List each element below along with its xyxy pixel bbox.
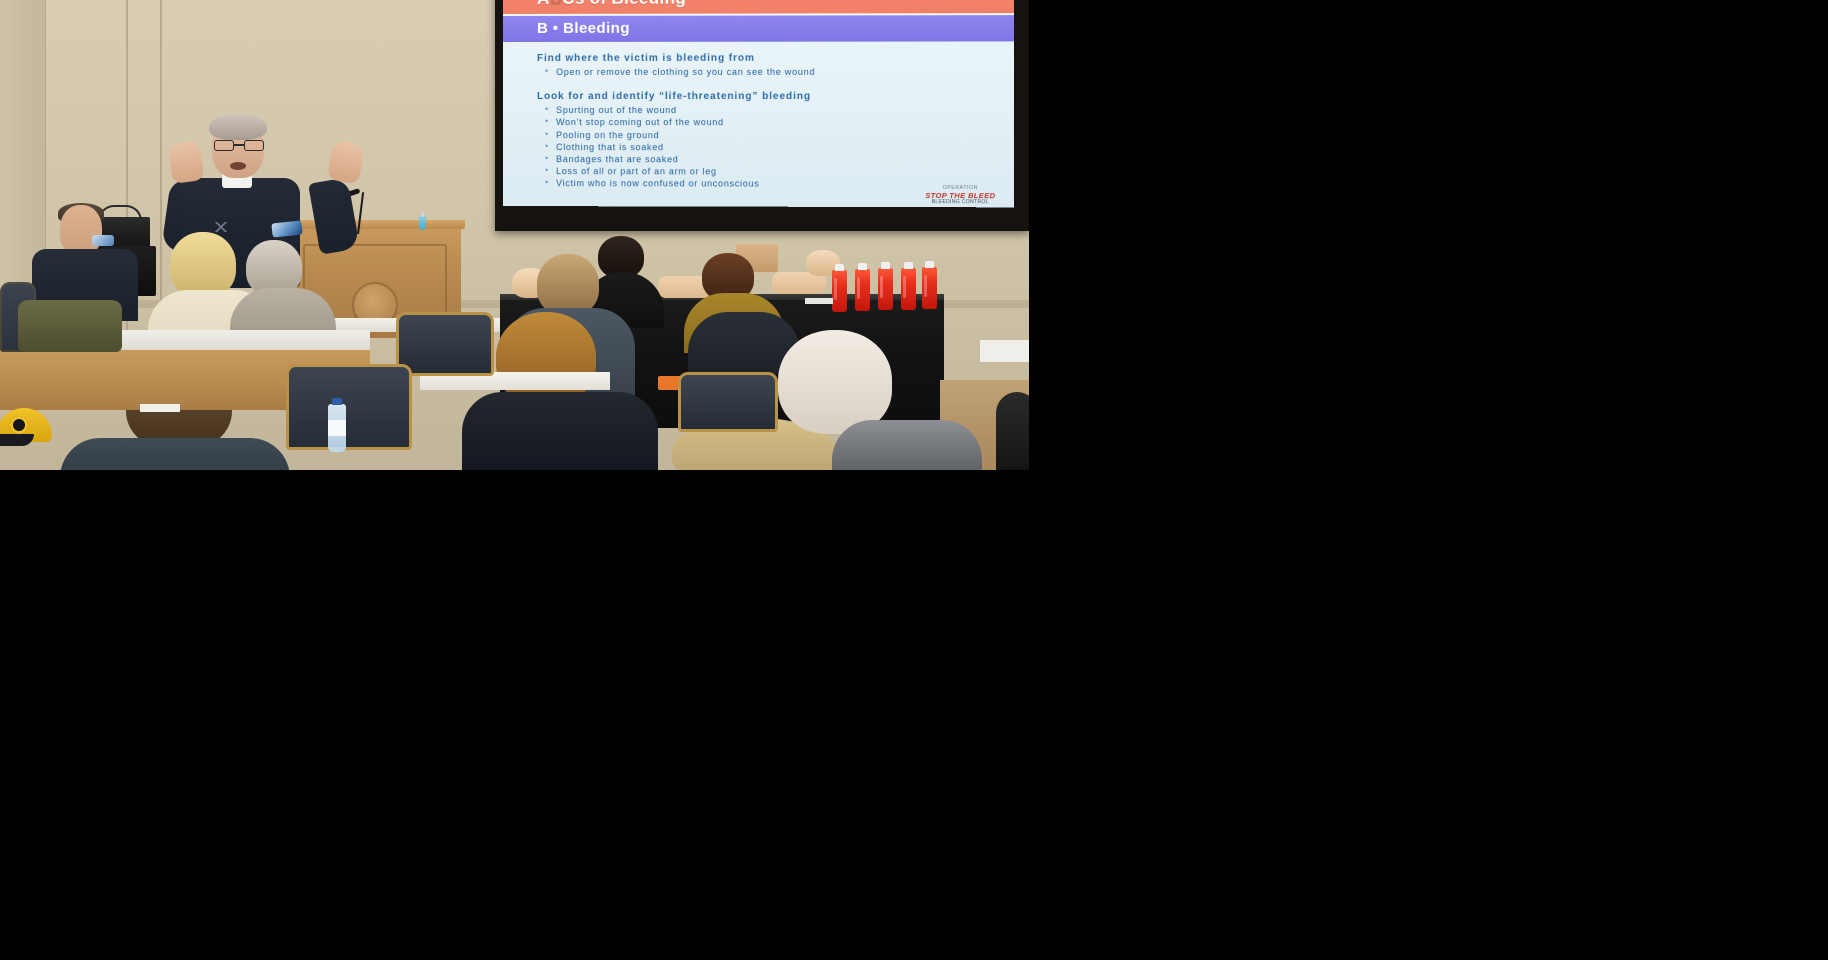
water-bottle: [328, 404, 346, 452]
head: [537, 254, 599, 316]
shoulders: [832, 420, 982, 470]
chair: [396, 312, 494, 376]
backpack: [18, 300, 122, 352]
blood-bottle: [855, 269, 870, 311]
blood-bottle: [901, 268, 916, 310]
list-item: Clothing that is soaked: [545, 141, 979, 154]
list-item: Spurting out of the wound: [545, 104, 979, 116]
logo-line-1: OPERATION: [925, 185, 995, 190]
list-item: Pooling on the ground: [545, 129, 979, 142]
slide-title: ABCs of Bleeding: [537, 0, 979, 8]
list-item: Won’t stop coming out of the wound: [545, 116, 979, 129]
slide-title-suffix: Cs of Bleeding: [562, 0, 686, 8]
head: [778, 330, 892, 434]
presenter-department-patch: [271, 220, 302, 237]
presentation-slide: Primary Principles: ABCs of Bleeding B •…: [503, 0, 1014, 207]
shoulders: [60, 438, 290, 470]
slide-subtitle: B • Bleeding: [537, 19, 979, 37]
seated-officer-patch: [92, 235, 114, 246]
presenter-left-hand: [167, 140, 204, 184]
photograph: Primary Principles: ABCs of Bleeding B •…: [0, 0, 1029, 470]
presenter-glasses: [214, 140, 264, 151]
shoulders: [462, 392, 658, 470]
paper-on-table: [805, 298, 833, 304]
seated-officer-head: [60, 205, 102, 255]
list-item: Open or remove the clothing so you can s…: [545, 66, 979, 78]
slide-spacer: [537, 78, 979, 91]
projection-screen: Primary Principles: ABCs of Bleeding B •…: [503, 0, 1014, 207]
slide-title-dim-letter: B: [550, 0, 563, 8]
table-right: [980, 340, 1029, 362]
slide-title-bar: Primary Principles: ABCs of Bleeding: [503, 0, 1014, 14]
bottle-cap: [332, 398, 342, 405]
letterbox-right: [1029, 0, 1828, 960]
slide-body: Find where the victim is bleeding from O…: [503, 41, 1014, 207]
logo-line-2: STOP THE BLEED: [925, 191, 995, 199]
presenter-brand-logo: [214, 222, 228, 232]
head: [170, 232, 236, 298]
hand-sanitizer-bottle: [419, 216, 426, 230]
projection-screen-frame: Primary Principles: ABCs of Bleeding B •…: [495, 0, 1029, 231]
blood-bottle: [878, 268, 893, 310]
head: [496, 312, 596, 404]
list-item: Loss of all or part of an arm or leg: [545, 165, 979, 178]
presenter-hair: [209, 114, 267, 140]
slide-subtitle-bar: B • Bleeding: [503, 13, 1014, 42]
shoulders: [996, 392, 1029, 470]
logo-line-3: BLEEDING CONTROL: [925, 200, 995, 205]
glasses-bridge: [234, 144, 244, 146]
chair: [678, 372, 778, 432]
list-item: Victim who is now confused or unconsciou…: [545, 178, 979, 191]
list-item: Bandages that are soaked: [545, 153, 979, 166]
screenshot-stage: Primary Principles: ABCs of Bleeding B •…: [0, 0, 1828, 960]
blood-bottle: [832, 270, 847, 312]
slide-section-one-heading: Find where the victim is bleeding from: [537, 53, 979, 64]
blood-bottle: [922, 267, 937, 309]
glasses-right-lens: [244, 140, 264, 151]
paper-on-table: [140, 404, 180, 412]
bottle-label: [328, 420, 346, 436]
slide-section-two-bullets: Spurting out of the wound Won’t stop com…: [545, 104, 979, 190]
slide-section-one-bullets: Open or remove the clothing so you can s…: [545, 66, 979, 78]
slide-title-prefix: A: [537, 0, 550, 8]
glasses-left-lens: [214, 140, 234, 151]
stop-the-bleed-logo: OPERATION STOP THE BLEED BLEEDING CONTRO…: [925, 185, 995, 205]
letterbox-bottom: [0, 470, 1029, 960]
chair: [286, 364, 412, 450]
bruins-emblem-icon: [10, 416, 28, 434]
slide-section-two-heading: Look for and identify “life-threatening”…: [537, 91, 979, 102]
presenter-mouth: [230, 162, 246, 170]
